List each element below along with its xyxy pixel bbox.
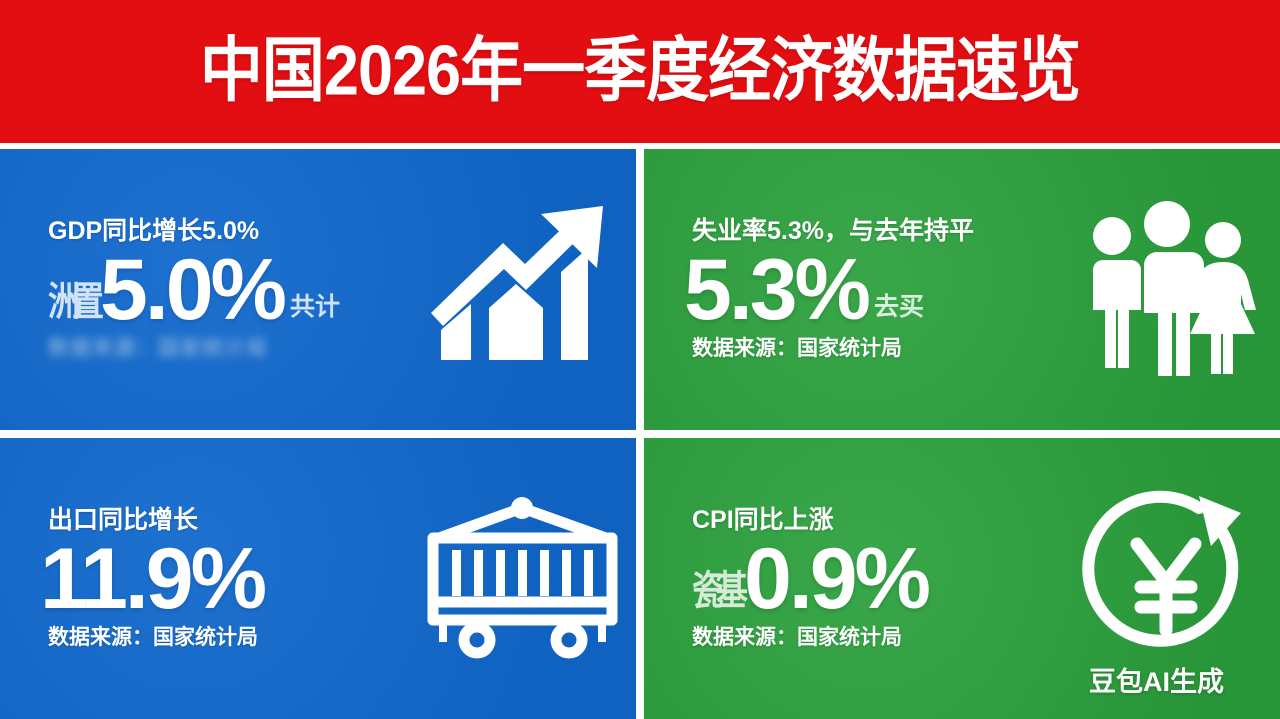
stat-card-gdp[interactable]: GDP同比增长5.0% 洲置 5.0% 共计 数据来源：国家统计局 <box>0 149 636 430</box>
stat-card-exports[interactable]: 出口同比增长 11.9% 数据来源：国家统计局 <box>0 438 636 719</box>
ai-watermark: 豆包AI生成 <box>1089 660 1224 699</box>
stat-card-exports-value-row: 11.9% <box>42 539 408 621</box>
artifact-glyphs-gdp: 洲置 <box>48 282 96 322</box>
stat-card-gdp-value-row: 洲置 5.0% 共计 <box>42 250 408 332</box>
stat-card-unemployment-source: 数据来源：国家统计局 <box>692 336 1052 361</box>
shipping-container-icon <box>408 494 636 664</box>
stat-card-unemployment-text: 失业率5.3%，与去年持平 5.3% 去买 数据来源：国家统计局 <box>644 218 1052 360</box>
stat-card-unemployment-value: 5.3% <box>684 250 868 332</box>
stat-card-unemployment-value-row: 5.3% 去买 <box>686 250 1052 332</box>
stat-card-gdp-value: 5.0% <box>100 250 284 332</box>
stat-card-cpi-source: 数据来源：国家统计局 <box>692 625 1052 650</box>
stat-card-cpi-value: 0.9% <box>744 539 928 621</box>
stats-card-grid: GDP同比增长5.0% 洲置 5.0% 共计 数据来源：国家统计局 <box>0 143 1280 719</box>
stat-card-exports-source: 数据来源：国家统计局 <box>48 625 408 650</box>
stat-card-cpi-value-row: 瓷基 0.9% <box>686 539 1052 621</box>
three-people-icon <box>1052 200 1280 380</box>
stat-card-unemployment-suffix: 去买 <box>874 287 924 323</box>
stat-card-exports-value: 11.9% <box>40 539 264 621</box>
stat-card-gdp-suffix: 共计 <box>290 287 340 323</box>
stat-card-cpi-text: CPI同比上涨 瓷基 0.9% 数据来源：国家统计局 <box>644 507 1052 649</box>
stat-card-gdp-source: 数据来源：国家统计局 <box>48 336 408 361</box>
stat-card-unemployment[interactable]: 失业率5.3%，与去年持平 5.3% 去买 数据来源：国家统计局 <box>644 149 1280 430</box>
stat-card-cpi[interactable]: CPI同比上涨 瓷基 0.9% 数据来源：国家统计局 <box>644 438 1280 719</box>
yen-refresh-icon <box>1052 486 1280 671</box>
stat-card-gdp-text: GDP同比增长5.0% 洲置 5.0% 共计 数据来源：国家统计局 <box>0 218 408 360</box>
growth-arrow-bars-icon <box>408 200 636 380</box>
infographic-root: 中国2026年一季度经济数据速览 GDP同比增长5.0% 洲置 5.0% 共计 … <box>0 0 1280 719</box>
artifact-glyphs-cpi: 瓷基 <box>692 571 740 611</box>
header-banner: 中国2026年一季度经济数据速览 <box>0 0 1280 143</box>
stat-card-exports-text: 出口同比增长 11.9% 数据来源：国家统计局 <box>0 507 408 649</box>
page-title: 中国2026年一季度经济数据速览 <box>200 36 1080 107</box>
